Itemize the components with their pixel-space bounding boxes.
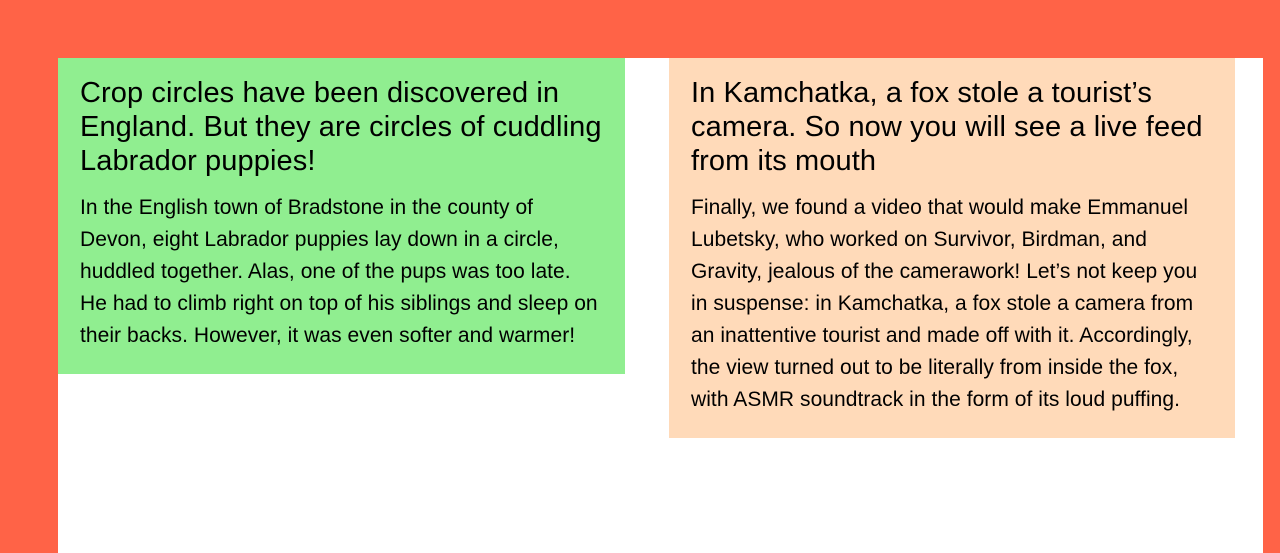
- article-heading-right: In Kamchatka, a fox stole a tourist’s ca…: [691, 76, 1213, 178]
- column-gutter: [625, 58, 669, 553]
- article-body-left: In the English town of Bradstone in the …: [80, 192, 603, 352]
- article-card-right: In Kamchatka, a fox stole a tourist’s ca…: [669, 58, 1235, 438]
- content-sheet: Crop circles have been discovered in Eng…: [58, 58, 1263, 553]
- article-card-left: Crop circles have been discovered in Eng…: [58, 58, 625, 374]
- article-heading-left: Crop circles have been discovered in Eng…: [80, 76, 603, 178]
- article-body-right: Finally, we found a video that would mak…: [691, 192, 1213, 416]
